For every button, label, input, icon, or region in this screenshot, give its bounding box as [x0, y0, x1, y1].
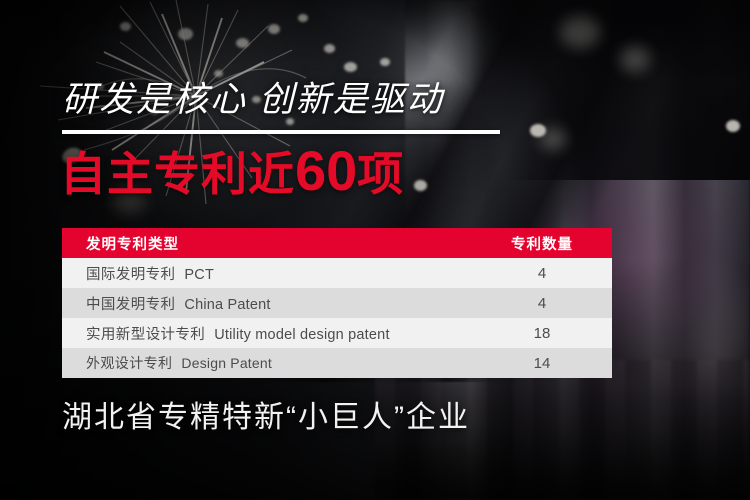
cell-patent-type-en: Design Patent [181, 355, 272, 371]
cell-patent-count: 14 [472, 355, 612, 372]
table-row: 实用新型设计专利Utility model design patent 18 [62, 318, 612, 348]
cell-patent-type-en: Utility model design patent [214, 327, 389, 343]
headline-divider [62, 130, 500, 134]
cell-patent-type-en: PCT [184, 267, 214, 283]
cell-patent-type-cn: 国际发明专利 [86, 267, 175, 283]
table-row: 外观设计专利Design Patent 14 [62, 348, 612, 378]
column-header-patent-type: 发明专利类型 [62, 233, 472, 254]
cell-patent-type: 国际发明专利PCT [62, 263, 472, 284]
column-header-patent-count: 专利数量 [472, 233, 612, 254]
headline-subtitle: 研发是核心 创新是驱动 [62, 80, 444, 120]
poster-content: 研发是核心 创新是驱动 自主专利近60项 发明专利类型 专利数量 国际发明专利P… [0, 0, 750, 500]
table-row: 国际发明专利PCT 4 [62, 258, 612, 288]
headline-prefix: 自主专利近 [60, 148, 295, 200]
cell-patent-type-cn: 中国发明专利 [86, 297, 175, 313]
table-row: 中国发明专利China Patent 4 [62, 288, 612, 318]
table-header-row: 发明专利类型 专利数量 [62, 228, 612, 258]
cell-patent-type-cn: 外观设计专利 [86, 355, 172, 371]
cell-patent-type: 外观设计专利Design Patent [62, 353, 472, 373]
footer-tagline: 湖北省专精特新“小巨人”企业 [62, 398, 470, 438]
headline-number: 60 [295, 139, 357, 202]
cell-patent-type: 实用新型设计专利Utility model design patent [62, 323, 472, 344]
cell-patent-type-en: China Patent [184, 297, 270, 313]
page-title: 自主专利近60项 [60, 143, 404, 202]
headline-suffix: 项 [357, 148, 404, 200]
cell-patent-type: 中国发明专利China Patent [62, 293, 472, 314]
cell-patent-count: 4 [472, 295, 612, 312]
poster-root: 研发是核心 创新是驱动 自主专利近60项 发明专利类型 专利数量 国际发明专利P… [0, 0, 750, 500]
cell-patent-count: 18 [472, 325, 612, 342]
patent-table: 发明专利类型 专利数量 国际发明专利PCT 4 中国发明专利China Pate… [62, 228, 612, 378]
cell-patent-count: 4 [472, 265, 612, 282]
cell-patent-type-cn: 实用新型设计专利 [86, 327, 205, 343]
